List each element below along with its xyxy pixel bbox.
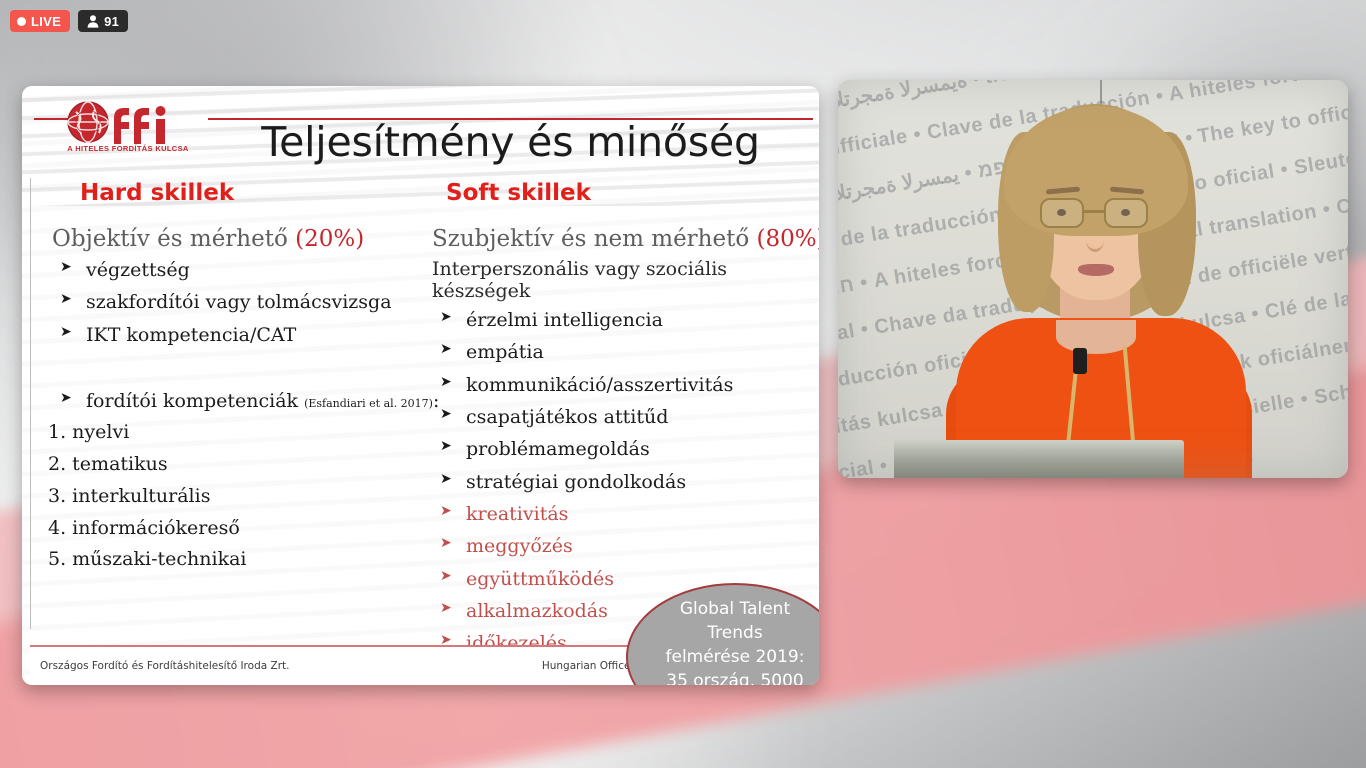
slide-title: Teljesítmény és minőség [212,122,809,163]
list-item: érzelmi intelligencia [426,308,819,332]
list-item: meggyőzés [426,534,819,558]
list-item: 1. nyelvi [48,421,420,444]
hard-skills-heading: Hard skillek [80,180,420,206]
viewer-count-label: 91 [104,15,119,28]
competence-label: fordítói kompetenciák [86,390,304,412]
live-label: LIVE [31,15,61,28]
list-item: IKT kompetencia/CAT [42,323,420,347]
slide-header: A HITELES FORDÍTÁS KULCSA Teljesítmény é… [22,86,819,166]
stream-status-overlay: LIVE 91 [10,10,128,32]
list-item: 5. műszaki-technikai [48,548,420,571]
presenter-glasses-bridge [1084,210,1104,213]
live-badge: LIVE [10,10,70,32]
hard-skills-subheading: Objektív és mérhető (20%) [52,226,420,252]
presenter-nose [1086,228,1104,252]
list-item: végzettség [42,258,420,282]
offi-logo-icon [62,100,194,146]
hard-skills-competence-list: fordítói kompetenciák (Esfandiari et al.… [42,389,420,413]
presenter-desk-laptop [894,440,1184,478]
list-item: kreativitás [426,502,819,526]
callout-line-4: 35 ország, 5000 [653,669,817,685]
list-item: kommunikáció/asszertivitás [426,373,819,397]
soft-skills-percent: (80%) [757,226,819,252]
callout-line-1: Global Talent [653,597,817,621]
list-item: problémamegoldás [426,437,819,461]
column-spacer [42,355,420,383]
presentation-slide[interactable]: A HITELES FORDÍTÁS KULCSA Teljesítmény é… [22,86,819,685]
hard-skills-bullet-list: végzettség szakfordítói vagy tolmácsvizs… [42,258,420,347]
column-hard-skills: Hard skillek Objektív és mérhető (20%) v… [22,174,420,641]
person-icon [87,15,99,28]
list-item: 4. információkereső [48,517,420,540]
callout-text: Global Talent Trends felmérése 2019: 35 … [639,597,819,685]
slide-footer-left: Országos Fordító és Fordításhitelesítő I… [40,660,289,672]
soft-skills-subheading: Szubjektív és nem mérhető (80%) [432,226,819,252]
soft-skills-subheading-text: Szubjektív és nem mérhető [432,226,757,252]
list-item-competence: fordítói kompetenciák (Esfandiari et al.… [42,389,420,413]
list-item: empátia [426,340,819,364]
hard-skills-numbered-list: 1. nyelvi 2. tematikus 3. interkulturáli… [48,421,420,571]
list-item: szakfordítói vagy tolmácsvizsga [42,290,420,314]
list-item: 3. interkulturális [48,485,420,508]
hard-skills-subheading-text: Objektív és mérhető [52,226,295,252]
callout-line-3: felmérése 2019: [653,645,817,669]
presenter-glasses-lens-left [1040,198,1084,228]
list-item: stratégiai gondolkodás [426,470,819,494]
callout-line-2: Trends [653,621,817,645]
presenter-hair-front [1004,106,1188,236]
column-soft-skills: Soft skillek Szubjektív és nem mérhető (… [420,174,819,641]
presenter-glasses-lens-right [1104,198,1148,228]
presenter-video-panel[interactable]: ةيمسرلا ةمجرتلا • حاتفم • traduzione uff… [838,80,1348,478]
soft-skills-heading: Soft skillek [446,180,819,206]
broadcast-stage: LIVE 91 [0,0,1366,768]
list-item: csapatjátékos attitűd [426,405,819,429]
list-item: 2. tematikus [48,453,420,476]
presenter-mouth [1078,264,1114,276]
soft-skills-note: Interperszonális vagy szociális készsége… [432,258,819,302]
offi-logo: A HITELES FORDÍTÁS KULCSA [62,100,194,158]
presenter-figure [838,80,1348,478]
hard-skills-percent: (20%) [295,226,364,252]
competence-citation: (Esfandiari et al. 2017) [304,397,433,410]
slide-columns: Hard skillek Objektív és mérhető (20%) v… [22,174,819,641]
presenter-lapel-microphone [1073,348,1087,374]
record-dot-icon [17,17,26,26]
offi-logo-tagline: A HITELES FORDÍTÁS KULCSA [62,144,194,153]
viewer-count-badge: 91 [78,10,128,32]
